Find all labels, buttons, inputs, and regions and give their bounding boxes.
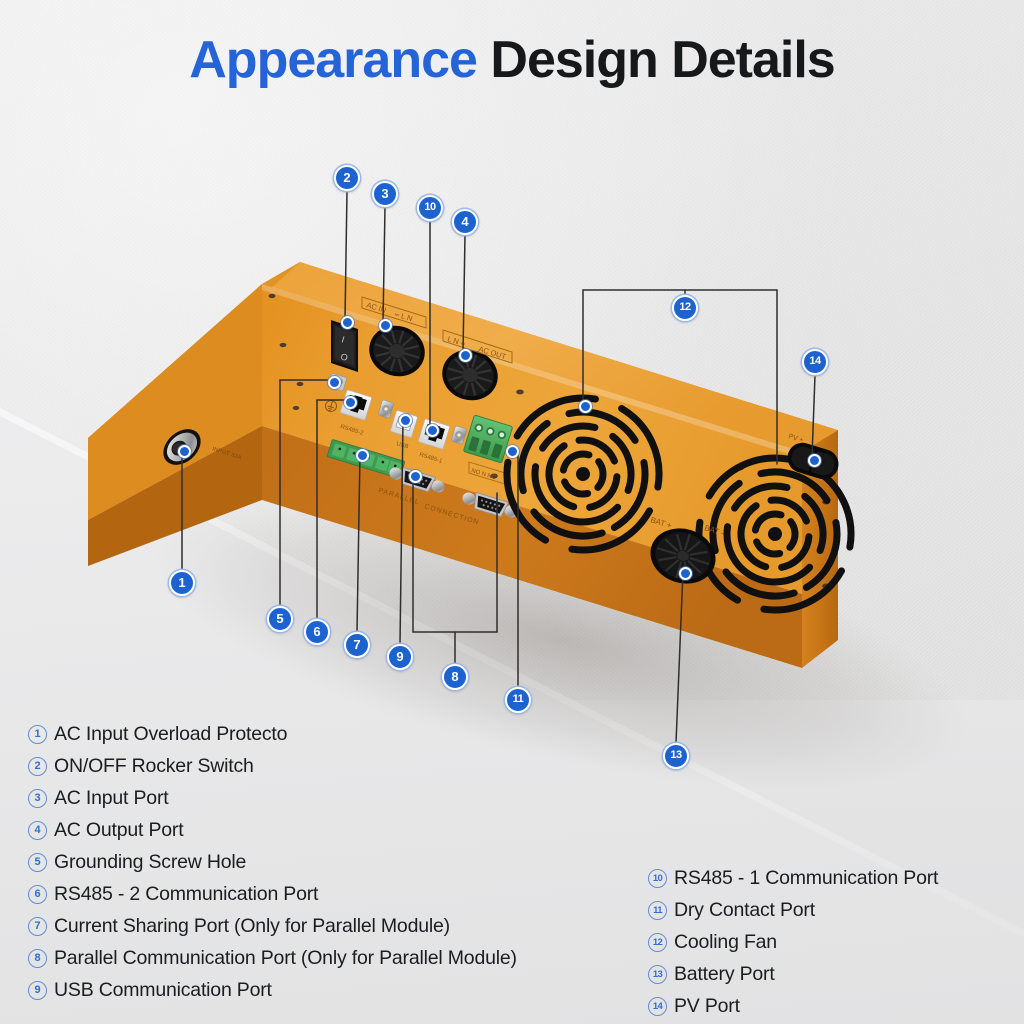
legend-number-8: 8 [28, 949, 47, 968]
legend-item-3: 3AC Input Port [28, 782, 648, 814]
callout-anchor-dot-2 [341, 316, 354, 329]
legend-item-8: 8Parallel Communication Port (Only for P… [28, 942, 648, 974]
callout-badge-10[interactable]: 10 [417, 195, 443, 221]
legend-number-3: 3 [28, 789, 47, 808]
legend-label-1: AC Input Overload Protecto [54, 723, 287, 746]
legend-label-12: Cooling Fan [674, 931, 777, 954]
callout-anchor-dot-4 [459, 349, 472, 362]
callout-anchor-dot-13 [679, 567, 692, 580]
legend-label-9: USB Communication Port [54, 979, 272, 1002]
callout-badge-8[interactable]: 8 [442, 664, 468, 690]
callout-anchor-dot-8 [409, 470, 422, 483]
legend-item-4: 4AC Output Port [28, 814, 648, 846]
callout-badge-4[interactable]: 4 [452, 209, 478, 235]
callout-badge-7[interactable]: 7 [344, 632, 370, 658]
callout-anchor-dot-11 [506, 445, 519, 458]
legend-label-7: Current Sharing Port (Only for Parallel … [54, 915, 450, 938]
callout-anchor-dot-6 [344, 396, 357, 409]
legend: 1AC Input Overload Protecto2ON/OFF Rocke… [0, 718, 1024, 1024]
callout-badge-2[interactable]: 2 [334, 165, 360, 191]
callout-anchor-dot-5 [328, 376, 341, 389]
callout-badge-3[interactable]: 3 [372, 181, 398, 207]
legend-item-7: 7Current Sharing Port (Only for Parallel… [28, 910, 648, 942]
callout-anchor-dot-7 [356, 449, 369, 462]
legend-label-14: PV Port [674, 995, 740, 1018]
legend-number-4: 4 [28, 821, 47, 840]
legend-item-5: 5Grounding Screw Hole [28, 846, 648, 878]
legend-number-1: 1 [28, 725, 47, 744]
callout-badge-5[interactable]: 5 [267, 606, 293, 632]
legend-label-4: AC Output Port [54, 819, 183, 842]
legend-number-14: 14 [648, 997, 667, 1016]
callout-badge-6[interactable]: 6 [304, 619, 330, 645]
legend-label-6: RS485 - 2 Communication Port [54, 883, 318, 906]
legend-label-10: RS485 - 1 Communication Port [674, 867, 938, 890]
legend-number-12: 12 [648, 933, 667, 952]
legend-number-10: 10 [648, 869, 667, 888]
callout-badge-12[interactable]: 12 [672, 295, 698, 321]
legend-number-11: 11 [648, 901, 667, 920]
legend-label-11: Dry Contact Port [674, 899, 815, 922]
legend-number-6: 6 [28, 885, 47, 904]
legend-number-9: 9 [28, 981, 47, 1000]
callout-anchor-dot-12 [579, 400, 592, 413]
legend-item-6: 6RS485 - 2 Communication Port [28, 878, 648, 910]
legend-label-2: ON/OFF Rocker Switch [54, 755, 254, 778]
legend-number-13: 13 [648, 965, 667, 984]
legend-column-right: 10RS485 - 1 Communication Port11Dry Cont… [648, 862, 1024, 1022]
legend-item-2: 2ON/OFF Rocker Switch [28, 750, 648, 782]
legend-number-5: 5 [28, 853, 47, 872]
legend-number-7: 7 [28, 917, 47, 936]
callout-badge-9[interactable]: 9 [387, 644, 413, 670]
legend-label-3: AC Input Port [54, 787, 168, 810]
legend-item-10: 10RS485 - 1 Communication Port [648, 862, 1024, 894]
legend-label-5: Grounding Screw Hole [54, 851, 246, 874]
legend-number-2: 2 [28, 757, 47, 776]
legend-item-13: 13Battery Port [648, 958, 1024, 990]
callout-badge-11[interactable]: 11 [505, 687, 531, 713]
legend-item-11: 11Dry Contact Port [648, 894, 1024, 926]
callout-badge-14[interactable]: 14 [802, 349, 828, 375]
legend-column-left: 1AC Input Overload Protecto2ON/OFF Rocke… [28, 718, 648, 1006]
callout-anchor-dot-14 [808, 454, 821, 467]
callout-anchor-dot-1 [178, 445, 191, 458]
legend-item-12: 12Cooling Fan [648, 926, 1024, 958]
legend-label-8: Parallel Communication Port (Only for Pa… [54, 947, 517, 970]
legend-label-13: Battery Port [674, 963, 775, 986]
legend-item-1: 1AC Input Overload Protecto [28, 718, 648, 750]
legend-item-9: 9USB Communication Port [28, 974, 648, 1006]
callout-badge-1[interactable]: 1 [169, 570, 195, 596]
callout-anchor-dot-9 [399, 414, 412, 427]
legend-item-14: 14PV Port [648, 990, 1024, 1022]
callout-anchor-dot-3 [379, 319, 392, 332]
callout-anchor-dot-10 [426, 424, 439, 437]
